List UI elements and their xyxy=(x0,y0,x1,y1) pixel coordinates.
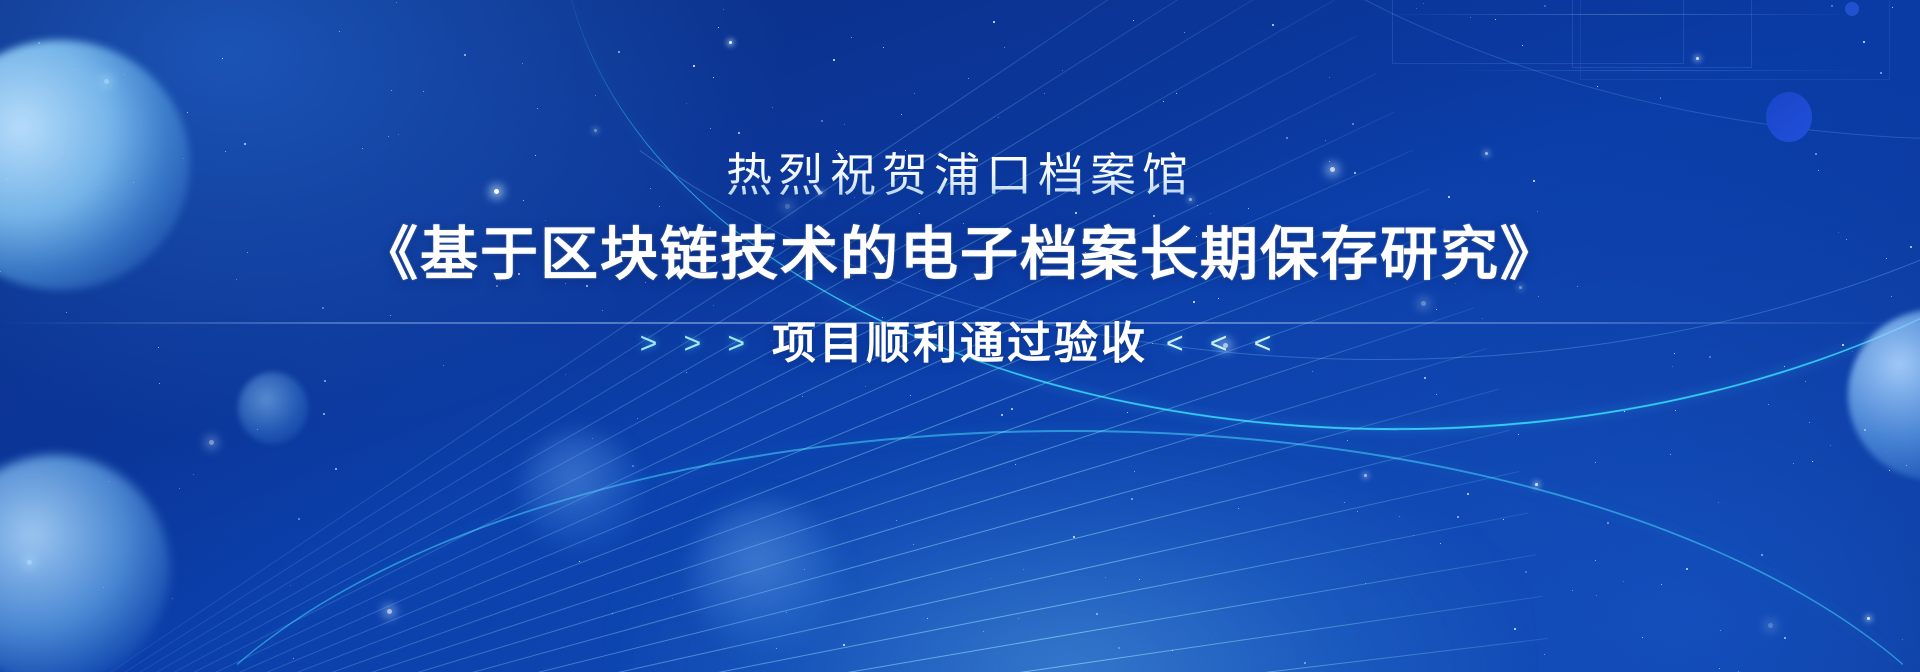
banner-content: 热烈祝贺浦口档案馆 《基于区块链技术的电子档案长期保存研究》 > > > 项目顺… xyxy=(0,0,1920,672)
project-title-text: 《基于区块链技术的电子档案长期保存研究》 xyxy=(360,221,1560,289)
status-text: 项目顺利通过验收 xyxy=(772,318,1148,371)
headline-text: 热烈祝贺浦口档案馆 xyxy=(726,148,1194,203)
chevron-left-icon: < < < xyxy=(1166,329,1280,359)
status-line: > > > 项目顺利通过验收 < < < xyxy=(640,318,1280,371)
celebration-banner: 热烈祝贺浦口档案馆 《基于区块链技术的电子档案长期保存研究》 > > > 项目顺… xyxy=(0,0,1920,672)
chevron-right-icon: > > > xyxy=(640,329,754,359)
